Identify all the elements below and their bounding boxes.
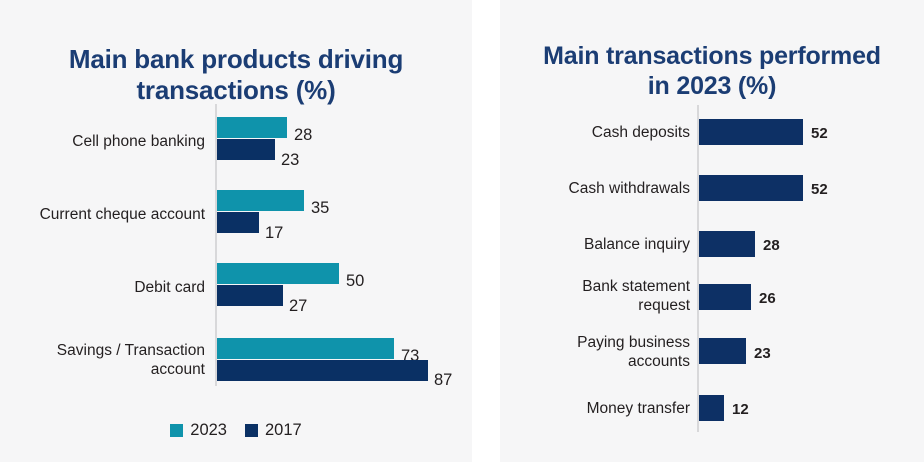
left-bar-value-2017: 17 <box>265 224 283 243</box>
left-category-label: Current cheque account <box>5 206 205 225</box>
right-bar <box>699 338 746 364</box>
left-chart-legend: 2023 2017 <box>0 421 472 440</box>
right-category-label: Money transfer <box>504 400 690 419</box>
right-bar <box>699 175 803 201</box>
left-bar-value-2017: 87 <box>434 371 452 390</box>
left-category-label: Savings / Transaction account <box>5 342 205 380</box>
left-bar-2023 <box>217 190 304 211</box>
left-bar-value-2023: 35 <box>311 199 329 218</box>
left-bar-value-2017: 23 <box>281 151 299 170</box>
right-bar-value: 28 <box>763 237 780 254</box>
right-bar-value: 52 <box>811 125 828 142</box>
left-bar-2017 <box>217 360 428 381</box>
left-bar-value-2023: 28 <box>294 126 312 145</box>
left-bar-2017 <box>217 212 259 233</box>
dual-bar-chart-figure: Main bank products driving transactions … <box>0 0 924 462</box>
right-bar-value: 26 <box>759 290 776 307</box>
left-bar-2017 <box>217 139 275 160</box>
right-category-label: Paying business accounts <box>504 334 690 372</box>
right-category-label: Balance inquiry <box>504 236 690 255</box>
right-category-label: Cash withdrawals <box>504 180 690 199</box>
left-chart-panel: Main bank products driving transactions … <box>0 0 472 462</box>
right-category-label: Cash deposits <box>504 124 690 143</box>
right-bar-value: 52 <box>811 181 828 198</box>
right-bar-value: 23 <box>754 345 771 362</box>
left-plot-area: Cell phone banking 28 23 Current cheque … <box>0 0 472 462</box>
left-bar-value-2017: 27 <box>289 297 307 316</box>
left-bar-2017 <box>217 285 283 306</box>
left-category-label: Cell phone banking <box>5 133 205 152</box>
left-bar-2023 <box>217 117 287 138</box>
legend-label-2017: 2017 <box>265 421 302 440</box>
left-bar-value-2023: 50 <box>346 272 364 291</box>
right-bar-value: 12 <box>732 401 749 418</box>
right-plot-area: Cash deposits 52 Cash withdrawals 52 Bal… <box>500 0 924 462</box>
right-bar <box>699 119 803 145</box>
left-category-label: Debit card <box>5 279 205 298</box>
legend-item-2023: 2023 <box>170 421 227 440</box>
right-bar <box>699 231 755 257</box>
legend-label-2023: 2023 <box>190 421 227 440</box>
right-chart-panel: Main transactions performed in 2023 (%) … <box>500 0 924 462</box>
right-axis-line <box>697 105 699 432</box>
left-bar-2023 <box>217 263 339 284</box>
right-category-label: Bank statement request <box>504 278 690 316</box>
legend-swatch-2017 <box>245 424 258 437</box>
left-bar-2023 <box>217 338 394 359</box>
legend-swatch-2023 <box>170 424 183 437</box>
right-bar <box>699 284 751 310</box>
right-bar <box>699 395 724 421</box>
legend-item-2017: 2017 <box>245 421 302 440</box>
